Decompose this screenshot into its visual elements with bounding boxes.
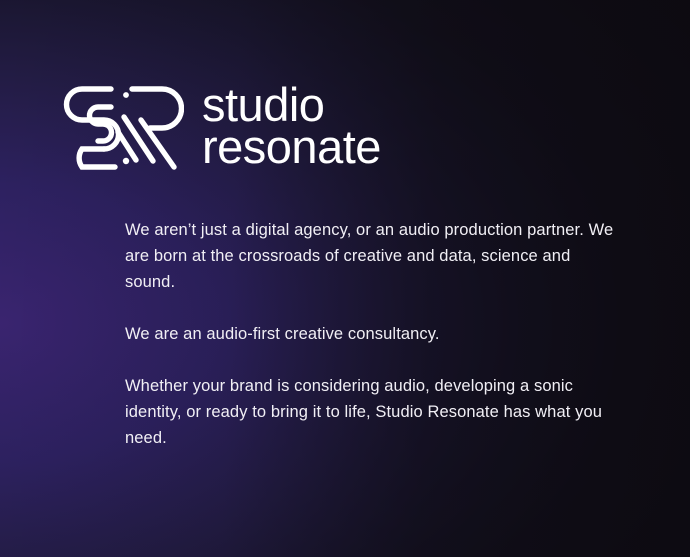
body-paragraph-3: Whether your brand is considering audio,… — [125, 373, 625, 451]
wordmark-line-studio: studio — [202, 86, 381, 124]
body-paragraph-1: We aren’t just a digital agency, or an a… — [125, 217, 625, 295]
body-paragraph-2: We are an audio-first creative consultan… — [125, 321, 625, 347]
brand-lockup: studio resonate — [62, 84, 381, 172]
wordmark: studio resonate — [202, 86, 381, 166]
wordmark-line-resonate: resonate — [202, 128, 381, 166]
slide-canvas: studio resonate We aren’t just a digital… — [0, 0, 690, 557]
studio-resonate-sr-monogram-icon — [62, 84, 184, 172]
body-copy: We aren’t just a digital agency, or an a… — [125, 217, 625, 451]
